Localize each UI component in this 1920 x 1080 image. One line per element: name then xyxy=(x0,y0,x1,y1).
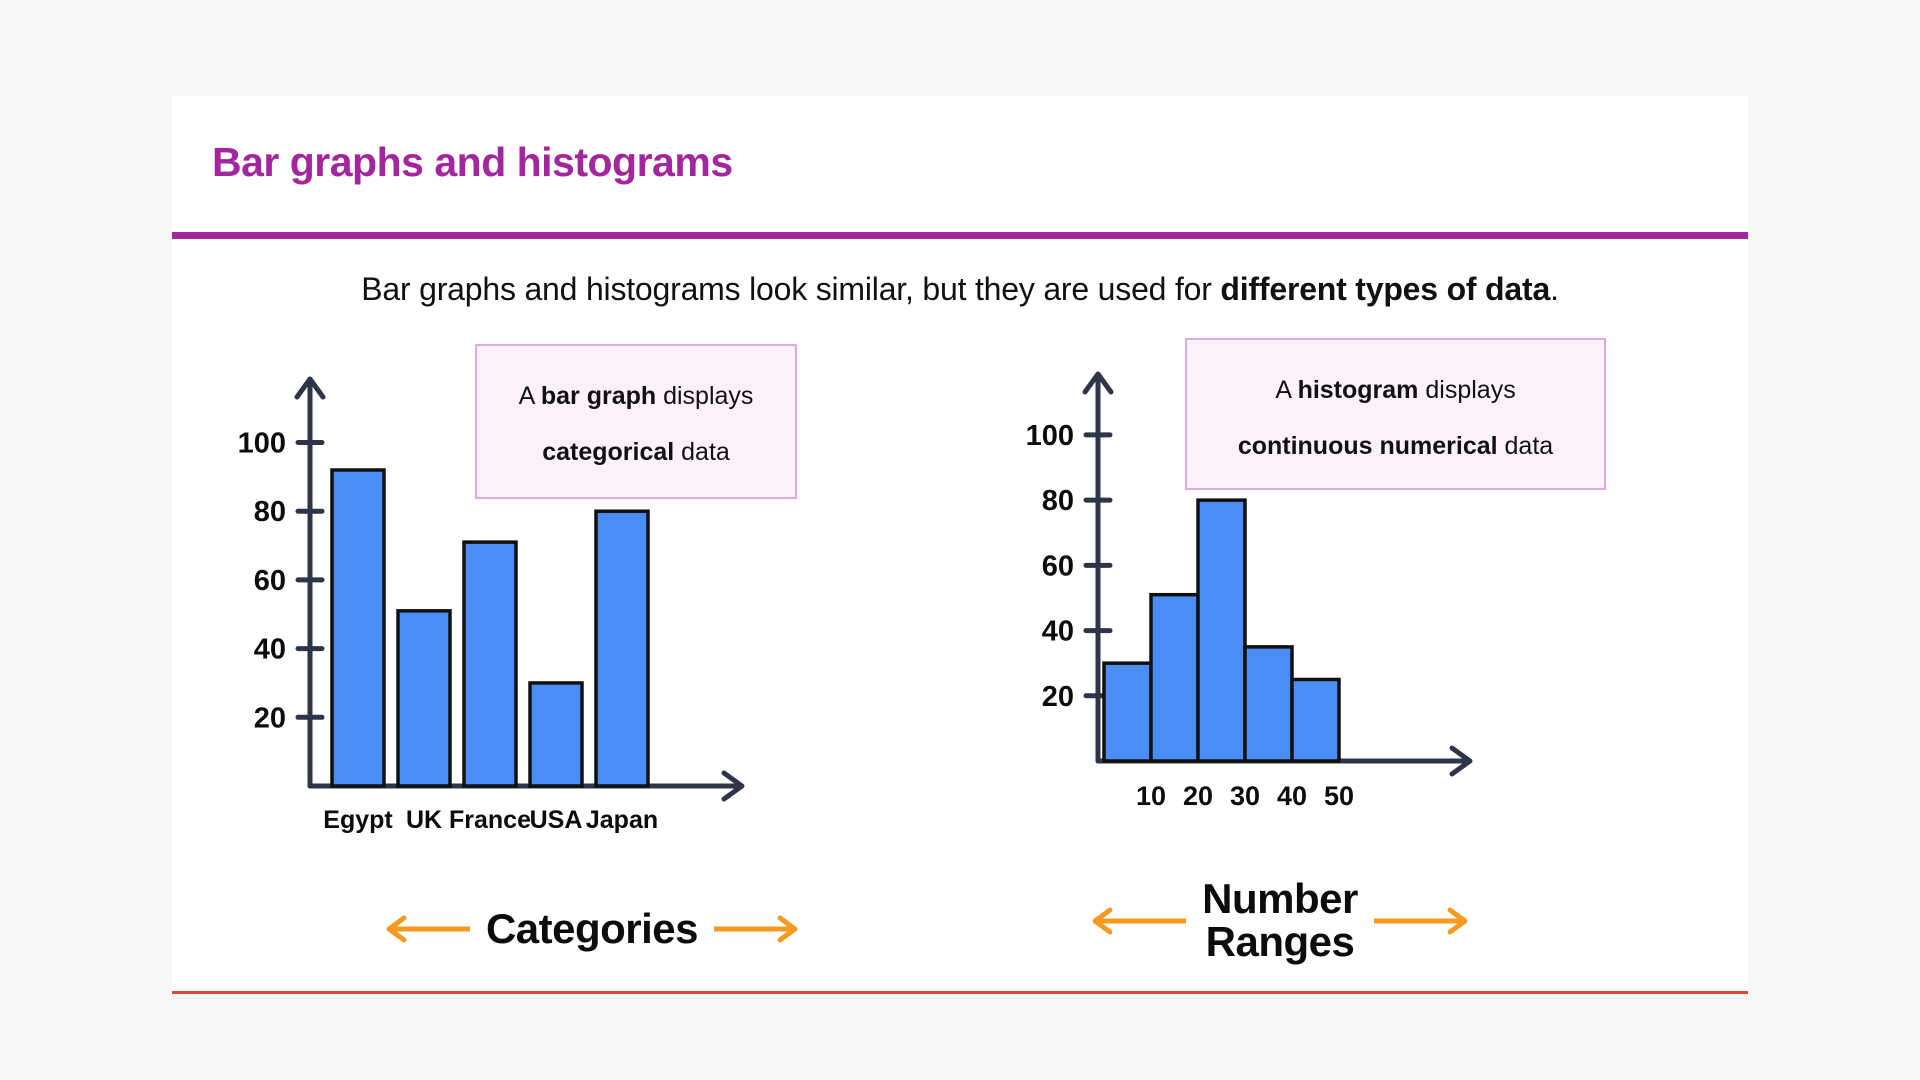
subtitle-part2: . xyxy=(1550,271,1559,307)
x-tick-label: UK xyxy=(406,806,442,834)
y-tick-label: 40 xyxy=(254,634,286,666)
histogram-chart: 204060801001020304050 xyxy=(960,326,1728,886)
histogram-panel: A histogram displays continuous numerica… xyxy=(960,326,1728,966)
y-tick-label: 60 xyxy=(254,565,286,597)
arrow-right-icon xyxy=(1372,904,1472,938)
number-ranges-label-text: Number Ranges xyxy=(1202,878,1358,964)
x-tick-label: 20 xyxy=(1183,781,1213,811)
chart-bar xyxy=(332,470,384,786)
y-tick-label: 100 xyxy=(1026,420,1074,452)
chart-bar xyxy=(464,542,516,786)
chart-bar xyxy=(1104,663,1151,761)
chart-bar xyxy=(530,683,582,786)
chart-bar xyxy=(1151,595,1198,761)
chart-bar xyxy=(1245,647,1292,761)
chart-bar xyxy=(398,611,450,786)
chart-bar xyxy=(1292,679,1339,761)
arrow-right-icon xyxy=(712,912,802,946)
arrow-left-icon xyxy=(382,912,472,946)
y-tick-label: 60 xyxy=(1042,550,1074,582)
x-tick-label: France xyxy=(449,806,531,834)
x-tick-label: USA xyxy=(530,806,583,834)
arrow-left-icon xyxy=(1088,904,1188,938)
categories-axis-label: Categories xyxy=(332,894,852,964)
y-tick-label: 40 xyxy=(1042,616,1074,648)
x-tick-label: 10 xyxy=(1136,781,1166,811)
bar-graph-chart: 20406080100EgyptUKFranceUSAJapan xyxy=(192,326,960,886)
x-tick-label: 40 xyxy=(1277,781,1307,811)
bar-graph-panel: A bar graph displays categorical data 20… xyxy=(192,326,960,966)
page-root: Bar graphs and histograms Bar graphs and… xyxy=(0,0,1920,1080)
categories-label-text: Categories xyxy=(486,908,698,951)
number-ranges-axis-label: Number Ranges xyxy=(1020,871,1540,971)
lesson-card: Bar graphs and histograms Bar graphs and… xyxy=(172,96,1748,994)
card-header: Bar graphs and histograms xyxy=(172,96,1748,235)
subtitle-emphasis: different types of data xyxy=(1220,271,1550,307)
y-tick-label: 80 xyxy=(1042,485,1074,517)
subtitle-part1: Bar graphs and histograms look similar, … xyxy=(361,271,1220,307)
y-tick-label: 100 xyxy=(238,428,286,460)
y-tick-label: 80 xyxy=(254,496,286,528)
y-tick-label: 20 xyxy=(254,702,286,734)
x-tick-label: Egypt xyxy=(323,806,393,834)
x-tick-label: 30 xyxy=(1230,781,1260,811)
header-divider xyxy=(172,232,1748,239)
y-tick-label: 20 xyxy=(1042,681,1074,713)
x-tick-label: 50 xyxy=(1324,781,1354,811)
x-tick-label: Japan xyxy=(586,806,658,834)
page-title: Bar graphs and histograms xyxy=(212,139,733,186)
chart-bar xyxy=(1198,500,1245,761)
chart-bar xyxy=(596,511,648,786)
subtitle: Bar graphs and histograms look similar, … xyxy=(172,271,1748,308)
